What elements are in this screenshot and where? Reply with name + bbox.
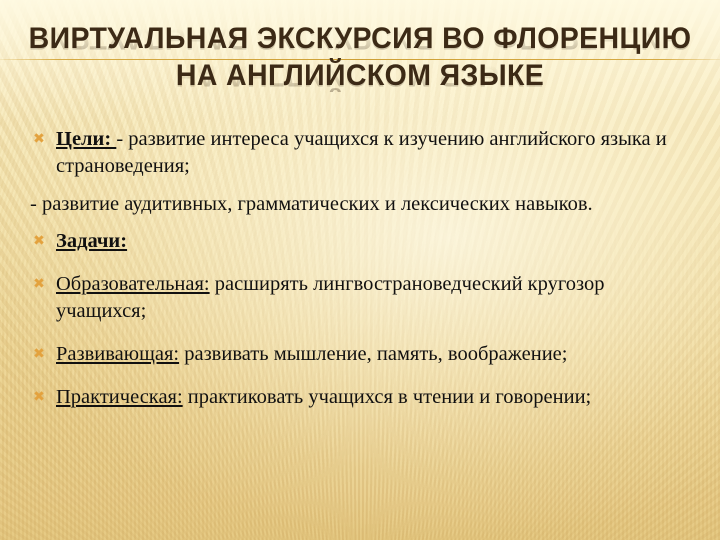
list-item: ✖ Практическая: практиковать учащихся в …: [0, 384, 720, 411]
presentation-slide: ВИРТУАЛЬНАЯ ЭКСКУРСИЯ ВО ФЛОРЕНЦИЮ ВИРТУ…: [0, 0, 720, 540]
list-item-text: развивать мышление, память, воображение;: [179, 343, 567, 365]
list-item-text: практиковать учащихся в чтении и говорен…: [183, 386, 592, 408]
list-item: ✖ Задачи:: [0, 228, 720, 255]
list-item-text: - развитие интереса учащихся к изучению …: [56, 128, 667, 177]
title-line-1-text: ВИРТУАЛЬНАЯ ЭКСКУРСИЯ ВО ФЛОРЕНЦИЮ: [29, 22, 692, 55]
slide-body: ✖ Цели: - развитие интереса учащихся к и…: [0, 126, 720, 422]
title-line-2-text: НА АНГЛИЙСКОМ ЯЗЫКЕ: [176, 59, 544, 92]
list-item-lead: Цели:: [56, 128, 116, 150]
list-item: - развитие аудитивных, грамматических и …: [0, 191, 720, 218]
bullet-x-icon: ✖: [32, 232, 46, 250]
title-line-2: НА АНГЛИЙСКОМ ЯЗЫКЕ НА АНГЛИЙСКОМ ЯЗЫКЕ: [18, 59, 702, 92]
list-item-text: - развитие аудитивных, грамматических и …: [30, 193, 593, 215]
bullet-x-icon: ✖: [32, 130, 46, 148]
bullet-x-icon: ✖: [32, 345, 46, 363]
list-item: ✖ Образовательная: расширять лингвостран…: [0, 271, 720, 325]
list-item: ✖ Развивающая: развивать мышление, памят…: [0, 341, 720, 368]
list-item-lead: Задачи:: [56, 230, 127, 252]
bullet-x-icon: ✖: [32, 388, 46, 406]
list-item-lead: Развивающая:: [56, 343, 179, 365]
list-item-lead: Практическая:: [56, 386, 183, 408]
title-line-1: ВИРТУАЛЬНАЯ ЭКСКУРСИЯ ВО ФЛОРЕНЦИЮ ВИРТУ…: [18, 22, 702, 55]
list-item: ✖ Цели: - развитие интереса учащихся к и…: [0, 126, 720, 180]
bullet-x-icon: ✖: [32, 275, 46, 293]
list-item-lead: Образовательная:: [56, 273, 210, 295]
slide-title: ВИРТУАЛЬНАЯ ЭКСКУРСИЯ ВО ФЛОРЕНЦИЮ ВИРТУ…: [0, 22, 720, 92]
